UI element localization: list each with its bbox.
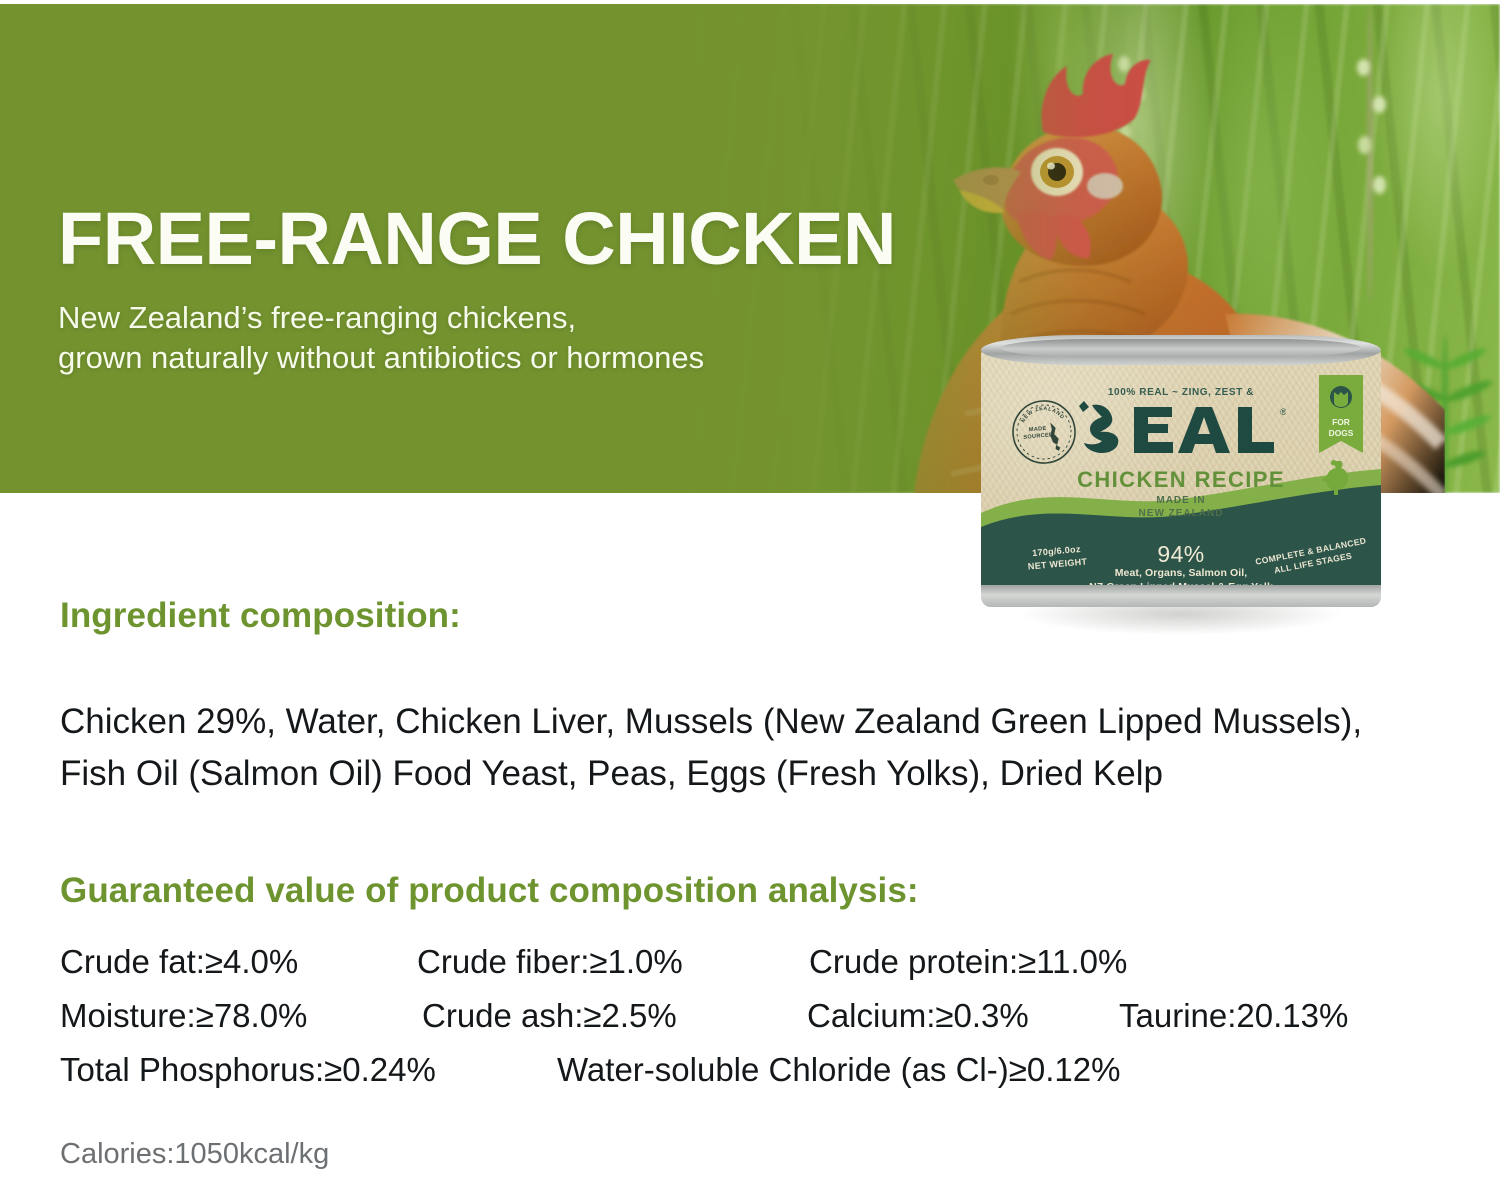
analysis-cell: Crude protein:≥11.0% (809, 935, 1127, 989)
analysis-cell: Total Phosphorus:≥0.24% (60, 1043, 557, 1097)
guaranteed-analysis-table: Crude fat:≥4.0% Crude fiber:≥1.0% Crude … (60, 935, 1460, 1097)
can-graphic: NEW ZEALAND MADE SOURCED FOR (975, 335, 1387, 613)
analysis-cell: Crude fat:≥4.0% (60, 935, 417, 989)
hero-text-block: FREE-RANGE CHICKEN New Zealand’s free-ra… (58, 202, 1078, 379)
analysis-cell: Water-soluble Chloride (as Cl-)≥0.12% (557, 1043, 1120, 1097)
svg-text:®: ® (1280, 407, 1286, 417)
analysis-cell: Calcium:≥0.3% (807, 989, 1119, 1043)
analysis-cell: Crude ash:≥2.5% (422, 989, 807, 1043)
analysis-cell: Crude fiber:≥1.0% (417, 935, 809, 989)
can-bottom-rim (981, 585, 1381, 607)
chicken-icon (1321, 459, 1355, 497)
guaranteed-analysis-heading: Guaranteed value of product composition … (60, 871, 919, 911)
analysis-row: Total Phosphorus:≥0.24% Water-soluble Ch… (60, 1043, 1460, 1097)
can-tagline: 100% REAL ~ ZING, ZEST & (981, 387, 1381, 398)
can-body: NEW ZEALAND MADE SOURCED FOR (981, 349, 1381, 597)
hero-subtitle-line1: New Zealand’s free-ranging chickens, (58, 300, 576, 335)
percent-desc-line1: Meat, Organs, Salmon Oil, (1115, 567, 1248, 579)
analysis-cell: Moisture:≥78.0% (60, 989, 422, 1043)
can-made-in: MADE IN NEW ZEALAND (981, 495, 1381, 520)
page-title: FREE-RANGE CHICKEN (58, 202, 1078, 276)
analysis-cell: Taurine:20.13% (1119, 989, 1348, 1043)
zeal-brand-logo: ® (981, 399, 1381, 463)
calories-text: Calories:1050kcal/kg (60, 1138, 329, 1171)
ingredients-heading: Ingredient composition: (60, 596, 461, 636)
made-in-line2: NEW ZEALAND (1139, 508, 1224, 519)
ingredients-text: Chicken 29%, Water, Chicken Liver, Musse… (60, 696, 1415, 800)
can-label: NEW ZEALAND MADE SOURCED FOR (981, 349, 1381, 597)
analysis-row: Crude fat:≥4.0% Crude fiber:≥1.0% Crude … (60, 935, 1460, 989)
analysis-row: Moisture:≥78.0% Crude ash:≥2.5% Calcium:… (60, 989, 1460, 1043)
hero-subtitle-line2: grown naturally without antibiotics or h… (58, 340, 704, 375)
hero-subtitle: New Zealand’s free-ranging chickens, gro… (58, 298, 1078, 379)
product-can: NEW ZEALAND MADE SOURCED FOR (975, 335, 1387, 640)
made-in-line1: MADE IN (1156, 495, 1205, 506)
